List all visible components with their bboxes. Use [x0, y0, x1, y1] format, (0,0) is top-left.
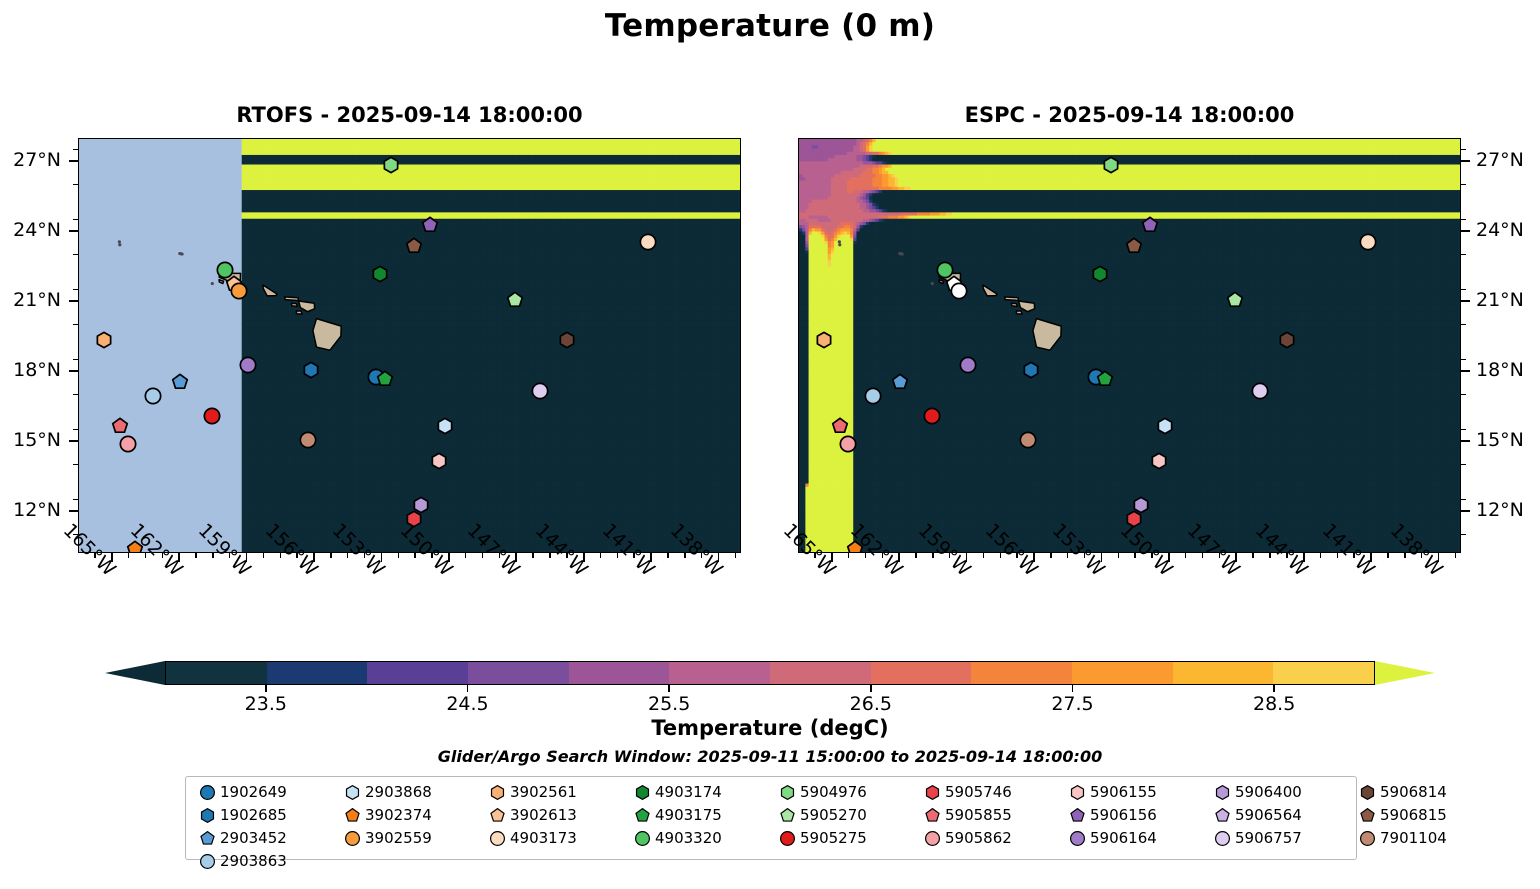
legend-label: 5905746 — [945, 783, 1012, 801]
legend-marker-circle-icon — [1064, 831, 1090, 846]
map-marker-5906155[interactable] — [1150, 452, 1167, 469]
colorbar-tick — [870, 685, 872, 692]
panel-title-espc: ESPC - 2025-09-14 18:00:00 — [798, 103, 1461, 127]
lon-tick-minor — [1269, 553, 1271, 558]
map-marker-3902561[interactable] — [95, 331, 112, 348]
lat-tick-major — [69, 160, 78, 162]
colorbar-tick-label: 24.5 — [446, 693, 488, 715]
colorbar-axis-label: Temperature (degC) — [0, 716, 1540, 740]
lat-tick-minor — [1461, 394, 1466, 396]
map-marker-5906156[interactable] — [421, 217, 438, 234]
float-id-legend[interactable]: 1902649190268529034522903863290386839023… — [185, 776, 1357, 860]
legend-marker-pentagon-icon — [1354, 808, 1380, 823]
legend-label: 5905855 — [945, 806, 1012, 824]
colorbar[interactable]: 23.524.525.526.527.528.5 — [105, 661, 1430, 685]
lon-tick-minor — [229, 553, 231, 558]
lon-tick-minor — [549, 553, 551, 558]
map-marker-4903173[interactable] — [639, 233, 656, 250]
map-marker-5905275[interactable] — [923, 408, 940, 425]
colorbar-tick — [1273, 685, 1275, 692]
lat-tick-major — [1461, 370, 1470, 372]
lat-label: 18°N — [0, 359, 61, 381]
lon-tick-minor — [1353, 553, 1355, 558]
map-marker-2903452[interactable] — [172, 373, 189, 390]
map-marker-5905270[interactable] — [1227, 291, 1244, 308]
lon-tick-minor — [414, 553, 416, 558]
lat-tick-minor — [73, 429, 78, 431]
lon-tick-minor — [1286, 553, 1288, 558]
colorbar-segment-11 — [1273, 662, 1374, 684]
lat-tick-minor — [73, 219, 78, 221]
legend-label: 5906757 — [1235, 829, 1302, 847]
lon-tick-minor — [1067, 553, 1069, 558]
legend-entry-5906564[interactable]: 5906564 — [1209, 805, 1354, 825]
lon-tick-minor — [1134, 553, 1136, 558]
lat-tick-minor — [1461, 534, 1466, 536]
legend-label: 4903174 — [655, 783, 722, 801]
lon-tick-minor — [667, 553, 669, 558]
lon-tick-minor — [1404, 553, 1406, 558]
lon-tick-minor — [1455, 553, 1457, 558]
map-marker-4903173[interactable] — [1359, 233, 1376, 250]
legend-entry-4903175[interactable]: 4903175 — [629, 805, 774, 825]
legend-column-6: 590615559061565906164 — [1064, 782, 1209, 871]
map-marker-5906814[interactable] — [558, 331, 575, 348]
legend-marker-pentagon-icon — [484, 808, 510, 823]
search-window-subtitle: Glider/Argo Search Window: 2025-09-11 15… — [0, 747, 1540, 766]
map-marker-4903175[interactable] — [376, 371, 393, 388]
legend-entry-3902561[interactable]: 3902561 — [484, 782, 629, 802]
colorbar-tick — [265, 685, 267, 692]
map-marker-2903863[interactable] — [865, 387, 882, 404]
colorbar-tick — [668, 685, 670, 692]
legend-column-3: 490317449031754903320 — [629, 782, 774, 871]
lat-tick-major — [1461, 510, 1470, 512]
colorbar-segment-10 — [1173, 662, 1274, 684]
legend-marker-hexagon-icon — [484, 785, 510, 800]
lat-tick-minor — [1461, 499, 1466, 501]
legend-marker-circle-icon — [1209, 831, 1235, 846]
legend-label: 5905270 — [800, 806, 867, 824]
legend-marker-hexagon-icon — [339, 785, 365, 800]
legend-entry-2903863[interactable]: 2903863 — [194, 851, 339, 871]
legend-entry-3902559[interactable]: 3902559 — [339, 828, 484, 848]
map-marker-7901104[interactable] — [1020, 431, 1037, 448]
lat-tick-minor — [73, 289, 78, 291]
lon-tick-minor — [1252, 553, 1254, 558]
lat-tick-minor — [1461, 254, 1466, 256]
colorbar-tick-label: 23.5 — [245, 693, 287, 715]
lon-tick-minor — [398, 553, 400, 558]
map-panel-rtofs[interactable] — [78, 138, 741, 553]
legend-label: 5906155 — [1090, 783, 1157, 801]
lon-tick-minor — [1202, 553, 1204, 558]
legend-column-5: 590574659058555905862 — [919, 782, 1064, 871]
colorbar-tick-label: 27.5 — [1051, 693, 1093, 715]
lat-tick-minor — [1461, 184, 1466, 186]
legend-marker-hexagon-icon — [1209, 785, 1235, 800]
legend-marker-circle-icon — [484, 831, 510, 846]
lon-tick-minor — [932, 553, 934, 558]
legend-entry-3902374[interactable]: 3902374 — [339, 805, 484, 825]
lon-tick-minor — [330, 553, 332, 558]
legend-entry-1902685[interactable]: 1902685 — [194, 805, 339, 825]
legend-entry-2903868[interactable]: 2903868 — [339, 782, 484, 802]
legend-entry-2903452[interactable]: 2903452 — [194, 828, 339, 848]
lon-tick-minor — [600, 553, 602, 558]
colorbar-tick-label: 28.5 — [1253, 693, 1295, 715]
lat-tick-major — [1461, 230, 1470, 232]
lon-tick-minor — [865, 553, 867, 558]
lon-tick-minor — [364, 553, 366, 558]
legend-entry-5905275[interactable]: 5905275 — [774, 828, 919, 848]
lat-tick-major — [69, 510, 78, 512]
lon-tick-minor — [431, 553, 433, 558]
legend-marker-pentagon-icon — [339, 808, 365, 823]
map-marker-5906156[interactable] — [1141, 217, 1158, 234]
map-panel-espc[interactable] — [798, 138, 1461, 553]
legend-marker-pentagon-icon — [1064, 808, 1090, 823]
lon-tick-minor — [145, 553, 147, 558]
map-marker-5906815[interactable] — [405, 238, 422, 255]
legend-marker-circle-icon — [774, 831, 800, 846]
legend-entry-5906155[interactable]: 5906155 — [1064, 782, 1209, 802]
colorbar-segment-0 — [166, 662, 267, 684]
lat-tick-major — [69, 440, 78, 442]
legend-entry-5905862[interactable]: 5905862 — [919, 828, 1064, 848]
legend-marker-hexagon-icon — [919, 785, 945, 800]
map-marker-3902559[interactable] — [950, 282, 967, 299]
map-marker-2903863[interactable] — [145, 387, 162, 404]
colorbar-segment-9 — [1072, 662, 1173, 684]
lon-tick-minor — [347, 553, 349, 558]
lon-tick-minor — [1387, 553, 1389, 558]
map-marker-5906815[interactable] — [1125, 238, 1142, 255]
lon-tick-minor — [1000, 553, 1002, 558]
colorbar-over-arrow — [1375, 661, 1435, 685]
colorbar-segment-3 — [468, 662, 569, 684]
lat-label: 12°N — [1476, 499, 1540, 521]
colorbar-segment-5 — [669, 662, 770, 684]
lat-label: 18°N — [1476, 359, 1540, 381]
legend-label: 5905275 — [800, 829, 867, 847]
legend-label: 2903868 — [365, 783, 432, 801]
map-marker-1902685[interactable] — [302, 361, 319, 378]
lat-tick-minor — [73, 464, 78, 466]
legend-label: 4903175 — [655, 806, 722, 824]
lon-tick-minor — [882, 553, 884, 558]
legend-entry-7901104[interactable]: 7901104 — [1354, 828, 1499, 848]
temperature-field-espc — [799, 139, 1460, 553]
map-marker-5906164[interactable] — [239, 357, 256, 374]
colorbar-tick-label: 26.5 — [850, 693, 892, 715]
legend-column-7: 590640059065645906757 — [1209, 782, 1354, 871]
colorbar-segment-2 — [367, 662, 468, 684]
lat-tick-minor — [73, 254, 78, 256]
map-marker-3902561[interactable] — [815, 331, 832, 348]
legend-column-8: 590681459068157901104 — [1354, 782, 1499, 871]
map-marker-5905862[interactable] — [120, 436, 137, 453]
legend-marker-hexagon-icon — [194, 808, 220, 823]
legend-label: 4903320 — [655, 829, 722, 847]
legend-entry-4903320[interactable]: 4903320 — [629, 828, 774, 848]
map-marker-5906757[interactable] — [531, 382, 548, 399]
lon-tick-minor — [701, 553, 703, 558]
lon-tick-minor — [1050, 553, 1052, 558]
lon-tick-minor — [1016, 553, 1018, 558]
legend-entry-4903174[interactable]: 4903174 — [629, 782, 774, 802]
lon-tick-minor — [195, 553, 197, 558]
lat-tick-minor — [1461, 359, 1466, 361]
legend-entry-1902649[interactable]: 1902649 — [194, 782, 339, 802]
lon-tick-minor — [915, 553, 917, 558]
legend-entry-5906164[interactable]: 5906164 — [1064, 828, 1209, 848]
figure-title: Temperature (0 m) — [0, 8, 1540, 44]
legend-marker-pentagon-icon — [919, 808, 945, 823]
lat-tick-minor — [73, 359, 78, 361]
lon-tick-minor — [296, 553, 298, 558]
legend-column-0: 1902649190268529034522903863 — [194, 782, 339, 871]
legend-label: 1902649 — [220, 783, 287, 801]
lat-tick-minor — [1461, 464, 1466, 466]
legend-label: 2903452 — [220, 829, 287, 847]
colorbar-gradient — [165, 661, 1375, 685]
map-marker-5906757[interactable] — [1251, 382, 1268, 399]
lat-tick-minor — [73, 394, 78, 396]
map-marker-2903868[interactable] — [437, 417, 454, 434]
lat-label: 12°N — [0, 499, 61, 521]
map-marker-5904976[interactable] — [1103, 156, 1120, 173]
map-marker-5906164[interactable] — [959, 357, 976, 374]
lat-label: 27°N — [0, 149, 61, 171]
legend-label: 3902374 — [365, 806, 432, 824]
legend-marker-hexagon-icon — [1354, 785, 1380, 800]
legend-label: 5906814 — [1380, 783, 1447, 801]
lon-tick-minor — [128, 553, 130, 558]
lat-tick-minor — [73, 324, 78, 326]
map-marker-5905275[interactable] — [203, 408, 220, 425]
legend-marker-hexagon-icon — [629, 785, 655, 800]
lon-tick-minor — [162, 553, 164, 558]
legend-entry-5906400[interactable]: 5906400 — [1209, 782, 1354, 802]
map-marker-5905855[interactable] — [111, 417, 128, 434]
legend-label: 3902613 — [510, 806, 577, 824]
legend-marker-circle-icon — [194, 785, 220, 800]
lat-tick-minor — [73, 149, 78, 151]
legend-label: 1902685 — [220, 806, 287, 824]
legend-entry-5905270[interactable]: 5905270 — [774, 805, 919, 825]
lat-tick-minor — [1461, 289, 1466, 291]
lat-tick-minor — [1461, 324, 1466, 326]
legend-column-1: 290386839023743902559 — [339, 782, 484, 871]
legend-entry-5905746[interactable]: 5905746 — [919, 782, 1064, 802]
lon-tick-minor — [1185, 553, 1187, 558]
map-marker-3902559[interactable] — [230, 282, 247, 299]
lat-tick-major — [1461, 160, 1470, 162]
legend-entry-5906814[interactable]: 5906814 — [1354, 782, 1499, 802]
legend-label: 2903863 — [220, 852, 287, 870]
lat-label: 27°N — [1476, 149, 1540, 171]
lon-tick-minor — [212, 553, 214, 558]
colorbar-segment-7 — [871, 662, 972, 684]
lon-tick-minor — [814, 553, 816, 558]
lat-tick-minor — [1461, 429, 1466, 431]
map-marker-5905855[interactable] — [831, 417, 848, 434]
colorbar-segment-6 — [770, 662, 871, 684]
lon-tick-minor — [499, 553, 501, 558]
map-marker-4903174[interactable] — [1092, 266, 1109, 283]
lon-tick-minor — [983, 553, 985, 558]
lat-label: 15°N — [0, 429, 61, 451]
lat-tick-minor — [1461, 149, 1466, 151]
map-marker-1902685[interactable] — [1022, 361, 1039, 378]
lon-tick-minor — [94, 553, 96, 558]
legend-marker-circle-icon — [629, 831, 655, 846]
legend-column-4: 590497659052705905275 — [774, 782, 919, 871]
panel-title-rtofs: RTOFS - 2025-09-14 18:00:00 — [78, 103, 741, 127]
map-marker-5906155[interactable] — [430, 452, 447, 469]
lat-tick-major — [1461, 440, 1470, 442]
map-marker-5904976[interactable] — [383, 156, 400, 173]
legend-entry-3902613[interactable]: 3902613 — [484, 805, 629, 825]
legend-marker-circle-icon — [194, 854, 220, 869]
legend-marker-pentagon-icon — [1209, 808, 1235, 823]
map-marker-4903175[interactable] — [1096, 371, 1113, 388]
legend-entry-5906815[interactable]: 5906815 — [1354, 805, 1499, 825]
lat-tick-minor — [73, 499, 78, 501]
lat-tick-major — [69, 370, 78, 372]
colorbar-tick — [467, 685, 469, 692]
legend-label: 3902559 — [365, 829, 432, 847]
legend-entry-5906156[interactable]: 5906156 — [1064, 805, 1209, 825]
legend-label: 5904976 — [800, 783, 867, 801]
legend-label: 5906815 — [1380, 806, 1447, 824]
legend-entry-5905855[interactable]: 5905855 — [919, 805, 1064, 825]
lon-tick-minor — [1219, 553, 1221, 558]
legend-label: 5905862 — [945, 829, 1012, 847]
colorbar-segment-8 — [971, 662, 1072, 684]
lon-tick-minor — [1421, 553, 1423, 558]
legend-marker-circle-icon — [919, 831, 945, 846]
lon-tick-minor — [1337, 553, 1339, 558]
legend-marker-hexagon-icon — [1064, 785, 1090, 800]
lon-tick-minor — [848, 553, 850, 558]
lat-tick-major — [1461, 300, 1470, 302]
lon-tick-minor — [735, 553, 737, 558]
colorbar-segment-1 — [267, 662, 368, 684]
lon-tick-minor — [465, 553, 467, 558]
legend-label: 5906564 — [1235, 806, 1302, 824]
lon-tick-minor — [949, 553, 951, 558]
lon-tick-minor — [532, 553, 534, 558]
legend-marker-hexagon-icon — [774, 785, 800, 800]
lat-label: 15°N — [1476, 429, 1540, 451]
lon-tick-minor — [684, 553, 686, 558]
legend-label: 5906156 — [1090, 806, 1157, 824]
legend-label: 5906400 — [1235, 783, 1302, 801]
legend-entry-5904976[interactable]: 5904976 — [774, 782, 919, 802]
lat-tick-major — [69, 230, 78, 232]
map-marker-2903452[interactable] — [892, 373, 909, 390]
lon-tick-minor — [1151, 553, 1153, 558]
legend-entry-4903173[interactable]: 4903173 — [484, 828, 629, 848]
colorbar-tick-label: 25.5 — [648, 693, 690, 715]
legend-column-2: 390256139026134903173 — [484, 782, 629, 871]
legend-label: 5906164 — [1090, 829, 1157, 847]
map-marker-5905862[interactable] — [840, 436, 857, 453]
lat-tick-major — [69, 300, 78, 302]
lon-tick-minor — [263, 553, 265, 558]
legend-marker-pentagon-icon — [629, 808, 655, 823]
lon-tick-minor — [1320, 553, 1322, 558]
lon-tick-minor — [1118, 553, 1120, 558]
temperature-field-rtofs — [79, 139, 740, 553]
colorbar-segment-4 — [569, 662, 670, 684]
lat-label: 24°N — [1476, 219, 1540, 241]
colorbar-tick — [1072, 685, 1074, 692]
legend-label: 3902561 — [510, 783, 577, 801]
legend-marker-pentagon-icon — [194, 831, 220, 846]
lon-tick-minor — [280, 553, 282, 558]
lon-tick-minor — [482, 553, 484, 558]
lat-label: 24°N — [0, 219, 61, 241]
colorbar-under-arrow — [105, 661, 165, 685]
lon-tick-minor — [617, 553, 619, 558]
lat-label: 21°N — [0, 289, 61, 311]
map-marker-5905270[interactable] — [507, 291, 524, 308]
lat-tick-minor — [73, 184, 78, 186]
lon-tick-minor — [1084, 553, 1086, 558]
lat-label: 21°N — [1476, 289, 1540, 311]
lat-tick-minor — [1461, 219, 1466, 221]
lon-tick-minor — [566, 553, 568, 558]
legend-marker-circle-icon — [1354, 831, 1380, 846]
map-marker-4903174[interactable] — [372, 266, 389, 283]
map-marker-5906814[interactable] — [1278, 331, 1295, 348]
map-marker-7901104[interactable] — [300, 431, 317, 448]
legend-marker-circle-icon — [339, 831, 365, 846]
legend-label: 7901104 — [1380, 829, 1447, 847]
legend-marker-pentagon-icon — [774, 808, 800, 823]
legend-label: 4903173 — [510, 829, 577, 847]
lon-tick-minor — [633, 553, 635, 558]
legend-entry-5906757[interactable]: 5906757 — [1209, 828, 1354, 848]
map-marker-2903868[interactable] — [1157, 417, 1174, 434]
